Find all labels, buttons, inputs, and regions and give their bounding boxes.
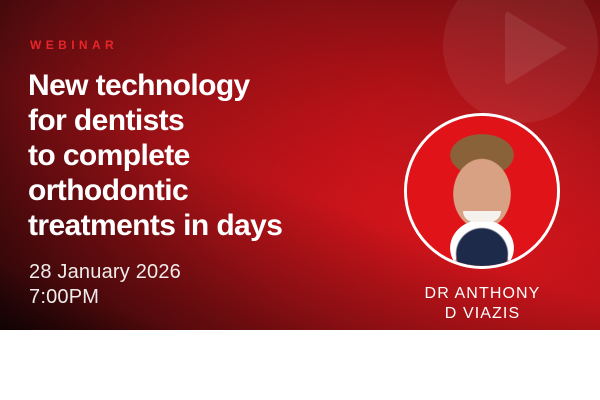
page-title: New technology for dentists to complete … (28, 68, 418, 243)
footer-bar: Dentistry Webinars 1HR CPD Sponsored by … (0, 330, 600, 400)
event-date: 28 January 2026 (29, 260, 181, 285)
headline-line-3: to complete (28, 138, 418, 173)
presenter-name-line-2: D VIAZIS (395, 304, 570, 324)
headline-line-2: for dentists (28, 103, 418, 138)
avatar (404, 113, 560, 269)
eyebrow-label: WEBINAR (30, 38, 118, 52)
play-triangle-icon (505, 10, 567, 86)
presenter-photo (407, 116, 557, 266)
presenter-photo-highlight (463, 211, 501, 222)
headline-line-5: treatments in days (28, 208, 418, 243)
headline-line-4: orthodontic (28, 173, 418, 208)
presenter-name: DR ANTHONY D VIAZIS (395, 284, 570, 324)
webinar-promo-banner: WEBINAR New technology for dentists to c… (0, 0, 600, 400)
event-time: 7:00PM (29, 285, 181, 310)
play-button-watermark-icon (443, 0, 598, 123)
event-datetime: 28 January 2026 7:00PM (29, 260, 181, 310)
presenter-name-line-1: DR ANTHONY (395, 284, 570, 304)
headline-line-1: New technology (28, 68, 418, 103)
